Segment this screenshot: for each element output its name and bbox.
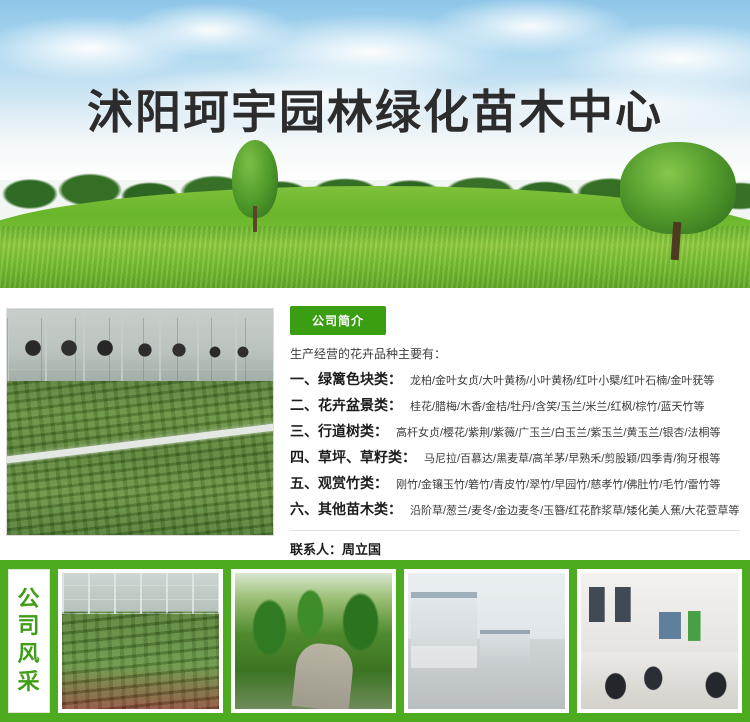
list-item: 五、观赏竹类： 刚竹/金镶玉竹/箬竹/青皮竹/翠竹/早园竹/慈孝竹/佛肚竹/毛竹… bbox=[290, 473, 740, 494]
tree-trunk bbox=[671, 222, 682, 260]
category-items: 龙柏/金叶女贞/大叶黄杨/小叶黄杨/红叶小檗/红叶石楠/金叶莸等 bbox=[410, 373, 714, 390]
contact-person: 联系人：周立国 bbox=[290, 539, 740, 558]
plant-category-list: 一、绿篱色块类： 龙柏/金叶女贞/大叶黄杨/小叶黄杨/红叶小檗/红叶石楠/金叶莸… bbox=[290, 369, 740, 520]
gallery-label-text: 公司风采 bbox=[17, 586, 40, 697]
category-items: 高杆女贞/樱花/紫荆/紫薇/广玉兰/白玉兰/紫玉兰/黄玉兰/银杏/法桐等 bbox=[396, 425, 721, 442]
intro-lead-text: 生产经营的花卉品种主要有： bbox=[290, 345, 740, 362]
list-item: 二、花卉盆景类： 桂花/腊梅/木香/金桔/牡丹/含笑/玉兰/米兰/红枫/棕竹/蓝… bbox=[290, 395, 740, 416]
tree-crown bbox=[620, 142, 736, 234]
list-item: 三、行道树类： 高杆女贞/樱花/紫荆/紫薇/广玉兰/白玉兰/紫玉兰/黄玉兰/银杏… bbox=[290, 421, 740, 442]
list-item: 一、绿篱色块类： 龙柏/金叶女贞/大叶黄杨/小叶黄杨/红叶小檗/红叶石楠/金叶莸… bbox=[290, 369, 740, 390]
company-gallery-strip: 公司风采 bbox=[0, 560, 750, 722]
section-divider bbox=[290, 530, 740, 531]
category-title: 六、其他苗木类： bbox=[290, 499, 402, 520]
gallery-thumb-office[interactable] bbox=[577, 569, 742, 713]
gallery-thumb-garden[interactable] bbox=[231, 569, 396, 713]
gallery-thumb-greenhouse[interactable] bbox=[58, 569, 223, 713]
banner-title: 沭阳珂宇园林绿化苗木中心 bbox=[0, 76, 750, 142]
product-detail-page: 沭阳珂宇园林绿化苗木中心 公司简介 生产经营的花卉品种主要有： 一、绿篱色块类：… bbox=[0, 0, 750, 722]
greenhouse-nursery-photo bbox=[62, 573, 219, 709]
list-item: 六、其他苗木类： 沿阶草/葱兰/麦冬/金边麦冬/玉簪/红花酢浆草/矮化美人蕉/大… bbox=[290, 499, 740, 520]
factory-building-photo bbox=[408, 573, 565, 709]
nursery-greenhouse-photo bbox=[6, 308, 274, 536]
category-items: 马尼拉/百慕达/黑麦草/高羊茅/早熟禾/剪股颖/四季青/狗牙根等 bbox=[424, 451, 720, 468]
category-items: 桂花/腊梅/木香/金桔/牡丹/含笑/玉兰/米兰/红枫/棕竹/蓝天竹等 bbox=[410, 399, 705, 416]
company-info-panel: 公司简介 生产经营的花卉品种主要有： 一、绿篱色块类： 龙柏/金叶女贞/大叶黄杨… bbox=[274, 294, 744, 589]
category-title: 五、观赏竹类： bbox=[290, 473, 388, 494]
list-item: 四、草坪、草籽类： 马尼拉/百慕达/黑麦草/高羊茅/早熟禾/剪股颖/四季青/狗牙… bbox=[290, 447, 740, 468]
photo-ventilation-fans bbox=[7, 318, 273, 381]
category-items: 刚竹/金镶玉竹/箬竹/青皮竹/翠竹/早园竹/慈孝竹/佛肚竹/毛竹/雷竹等 bbox=[396, 477, 721, 494]
category-title: 二、花卉盆景类： bbox=[290, 395, 402, 416]
tree-right-icon bbox=[620, 142, 736, 260]
office-staff-photo bbox=[581, 573, 738, 709]
tropical-garden-photo bbox=[235, 573, 392, 709]
hero-banner: 沭阳珂宇园林绿化苗木中心 bbox=[0, 0, 750, 288]
category-items: 沿阶草/葱兰/麦冬/金边麦冬/玉簪/红花酢浆草/矮化美人蕉/大花萱草等 bbox=[410, 503, 739, 520]
gallery-thumb-building[interactable] bbox=[404, 569, 569, 713]
category-title: 三、行道树类： bbox=[290, 421, 388, 442]
company-intro-section: 公司简介 生产经营的花卉品种主要有： 一、绿篱色块类： 龙柏/金叶女贞/大叶黄杨… bbox=[0, 288, 750, 550]
category-title: 一、绿篱色块类： bbox=[290, 369, 402, 390]
category-title: 四、草坪、草籽类： bbox=[290, 447, 416, 468]
gallery-vertical-label: 公司风采 bbox=[8, 569, 50, 713]
tree-left-icon bbox=[232, 140, 278, 232]
tree-trunk bbox=[253, 206, 257, 232]
company-intro-badge: 公司简介 bbox=[290, 306, 386, 335]
